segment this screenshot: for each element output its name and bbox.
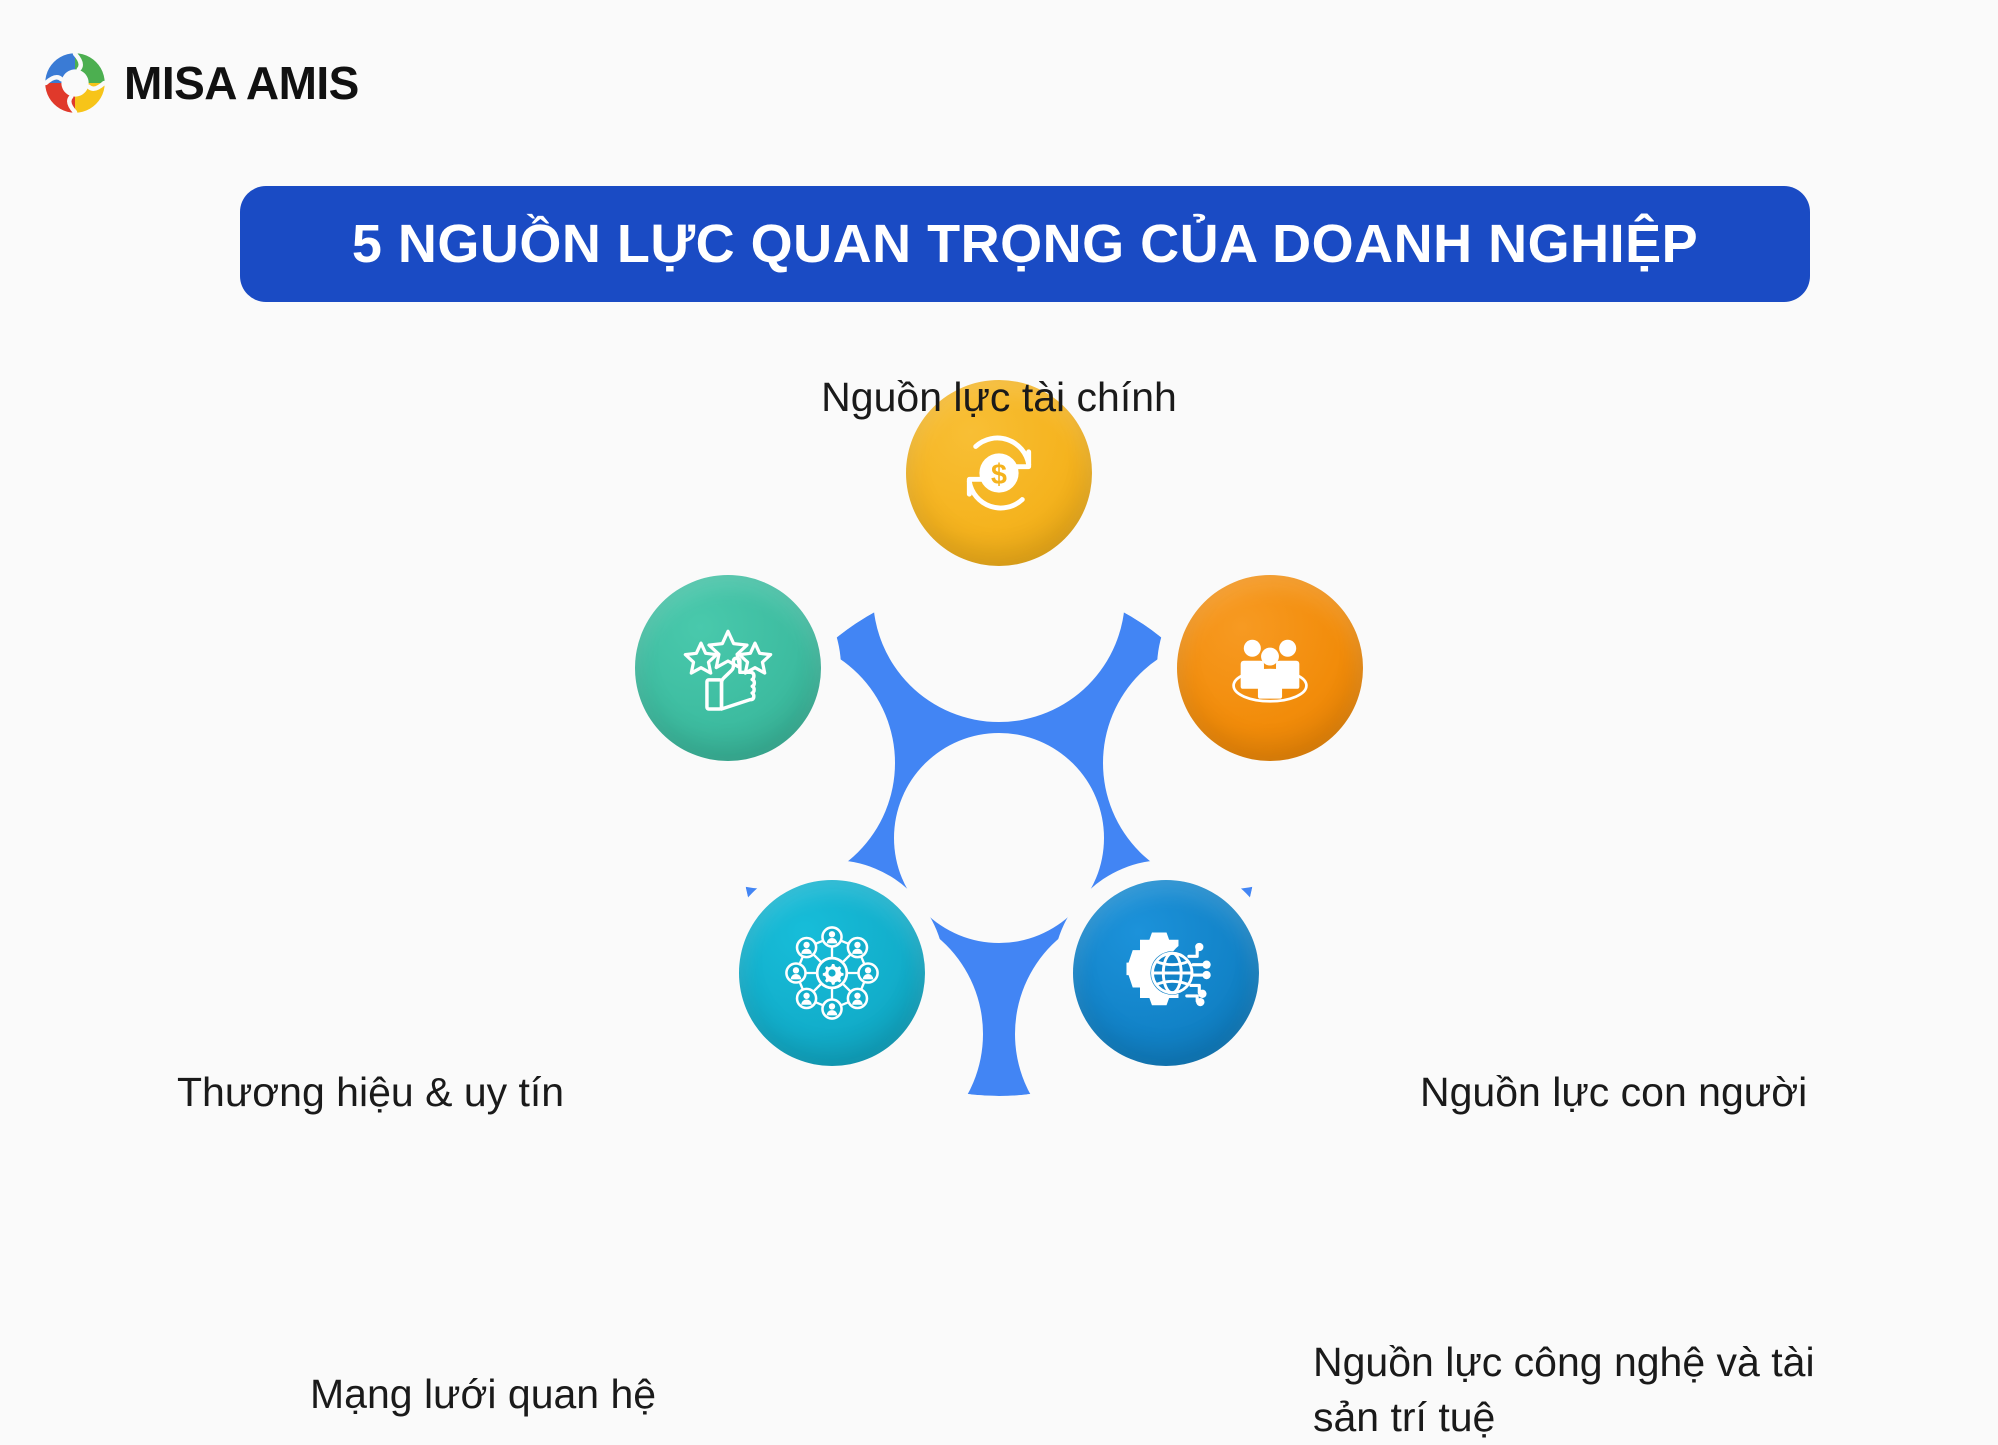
node-technology-circle	[1073, 880, 1259, 1066]
label-people: Nguồn lực con người	[1420, 1065, 1807, 1120]
label-network: Mạng lưới quan hệ	[310, 1367, 656, 1422]
brand-logo: MISA AMIS	[44, 52, 359, 114]
node-network[interactable]	[719, 860, 945, 1086]
gear-globe-circuit-icon	[1114, 921, 1218, 1025]
svg-text:$: $	[991, 459, 1007, 491]
network-nodes-gear-icon	[779, 920, 885, 1026]
people-group-icon	[1218, 616, 1322, 720]
brand-name: MISA AMIS	[124, 60, 359, 106]
label-brand: Thương hiệu & uy tín	[177, 1065, 564, 1120]
node-network-circle	[739, 880, 925, 1066]
node-technology[interactable]	[1053, 860, 1279, 1086]
page-title: 5 NGUỒN LỰC QUAN TRỌNG CỦA DOANH NGHIỆP	[352, 213, 1698, 275]
dollar-refresh-icon: $	[946, 420, 1052, 526]
resources-diagram: $	[0, 330, 1998, 1290]
node-brand[interactable]	[615, 555, 841, 781]
node-brand-circle	[635, 575, 821, 761]
stars-thumbsup-icon	[674, 614, 782, 722]
misa-swirl-logo-icon	[44, 52, 106, 114]
node-people-circle	[1177, 575, 1363, 761]
node-people[interactable]	[1157, 555, 1383, 781]
label-technology: Nguồn lực công nghệ và tài sản trí tuệ	[1313, 1335, 1873, 1445]
label-finance: Nguồn lực tài chính	[0, 370, 1998, 425]
title-banner: 5 NGUỒN LỰC QUAN TRỌNG CỦA DOANH NGHIỆP	[240, 186, 1810, 302]
